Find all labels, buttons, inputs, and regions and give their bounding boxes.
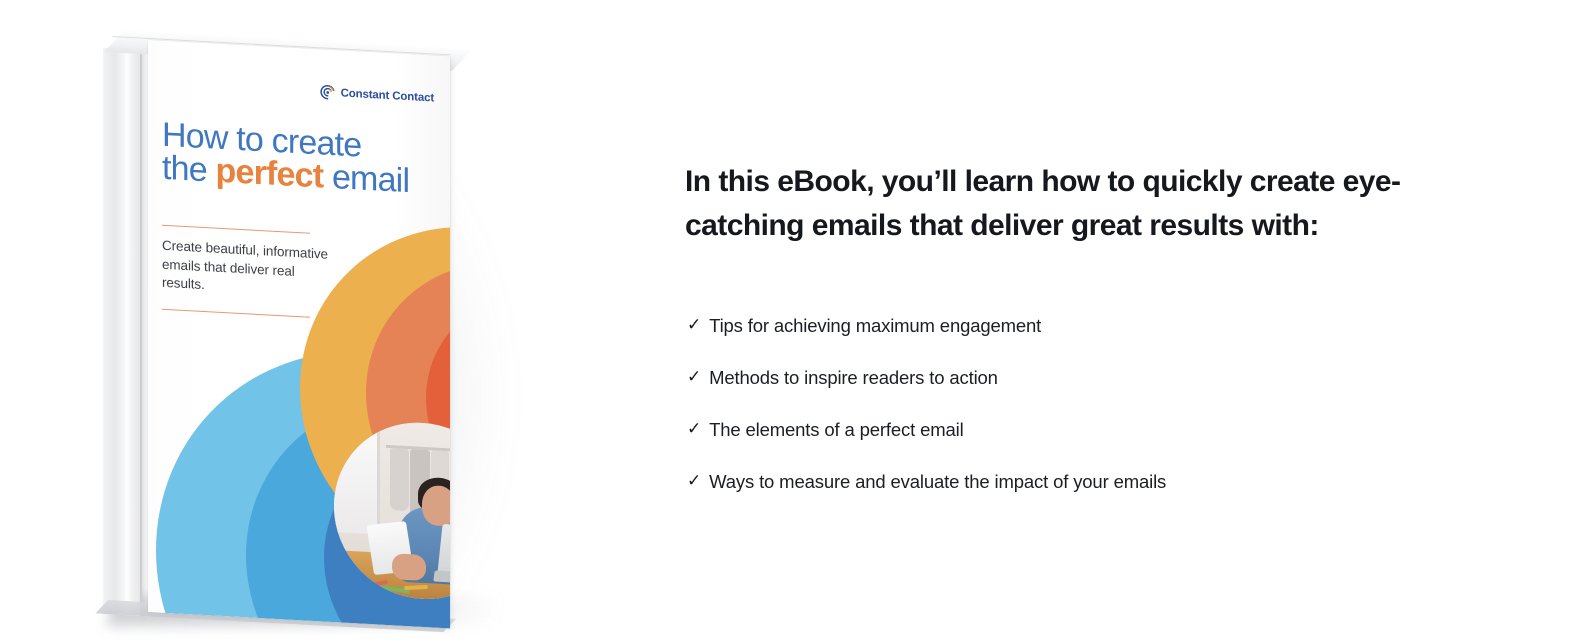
ebook-promo-page: Constant Contact How to create the perfe… xyxy=(0,0,1574,644)
list-item-label: Ways to measure and evaluate the impact … xyxy=(709,470,1166,494)
cover-title: How to create the perfect email xyxy=(162,119,442,200)
list-item-label: Methods to inspire readers to action xyxy=(709,366,998,390)
brand-name: Constant Contact xyxy=(341,87,434,104)
check-icon: ✓ xyxy=(687,366,701,388)
list-item: ✓ Methods to inspire readers to action xyxy=(687,366,1487,390)
page-title: In this eBook, you’ll learn how to quick… xyxy=(685,160,1485,248)
check-icon: ✓ xyxy=(687,418,701,440)
promo-copy-column: In this eBook, you’ll learn how to quick… xyxy=(685,0,1505,644)
cover-divider-top xyxy=(162,225,310,234)
list-item-label: Tips for achieving maximum engagement xyxy=(709,314,1041,338)
cover-title-emphasis: perfect xyxy=(216,152,324,196)
list-item-label: The elements of a perfect email xyxy=(709,418,963,442)
photo-person-head xyxy=(422,485,450,527)
list-item: ✓ Tips for achieving maximum engagement xyxy=(687,314,1487,338)
benefits-list: ✓ Tips for achieving maximum engagement … xyxy=(687,314,1487,494)
constant-contact-swirl-icon xyxy=(319,83,336,101)
list-item: ✓ The elements of a perfect email xyxy=(687,418,1487,442)
check-icon: ✓ xyxy=(687,470,701,492)
cover-divider-bottom xyxy=(162,309,310,318)
brand-logo: Constant Contact xyxy=(319,83,434,106)
cover-title-line-2-post: email xyxy=(323,157,409,200)
book-front-cover: Constant Contact How to create the perfe… xyxy=(148,40,450,628)
cover-photo-circle xyxy=(334,418,450,604)
photo-window xyxy=(334,428,380,535)
cover-subtitle: Create beautiful, informative emails tha… xyxy=(162,237,332,302)
check-icon: ✓ xyxy=(687,314,701,336)
cover-artboard: Constant Contact How to create the perfe… xyxy=(148,40,450,628)
photo-person-arm xyxy=(392,553,426,581)
cover-title-line-2-pre: the xyxy=(162,149,216,190)
list-item: ✓ Ways to measure and evaluate the impac… xyxy=(687,470,1487,494)
ebook-cover-mockup: Constant Contact How to create the perfe… xyxy=(0,0,660,644)
photo-garment xyxy=(390,448,409,511)
